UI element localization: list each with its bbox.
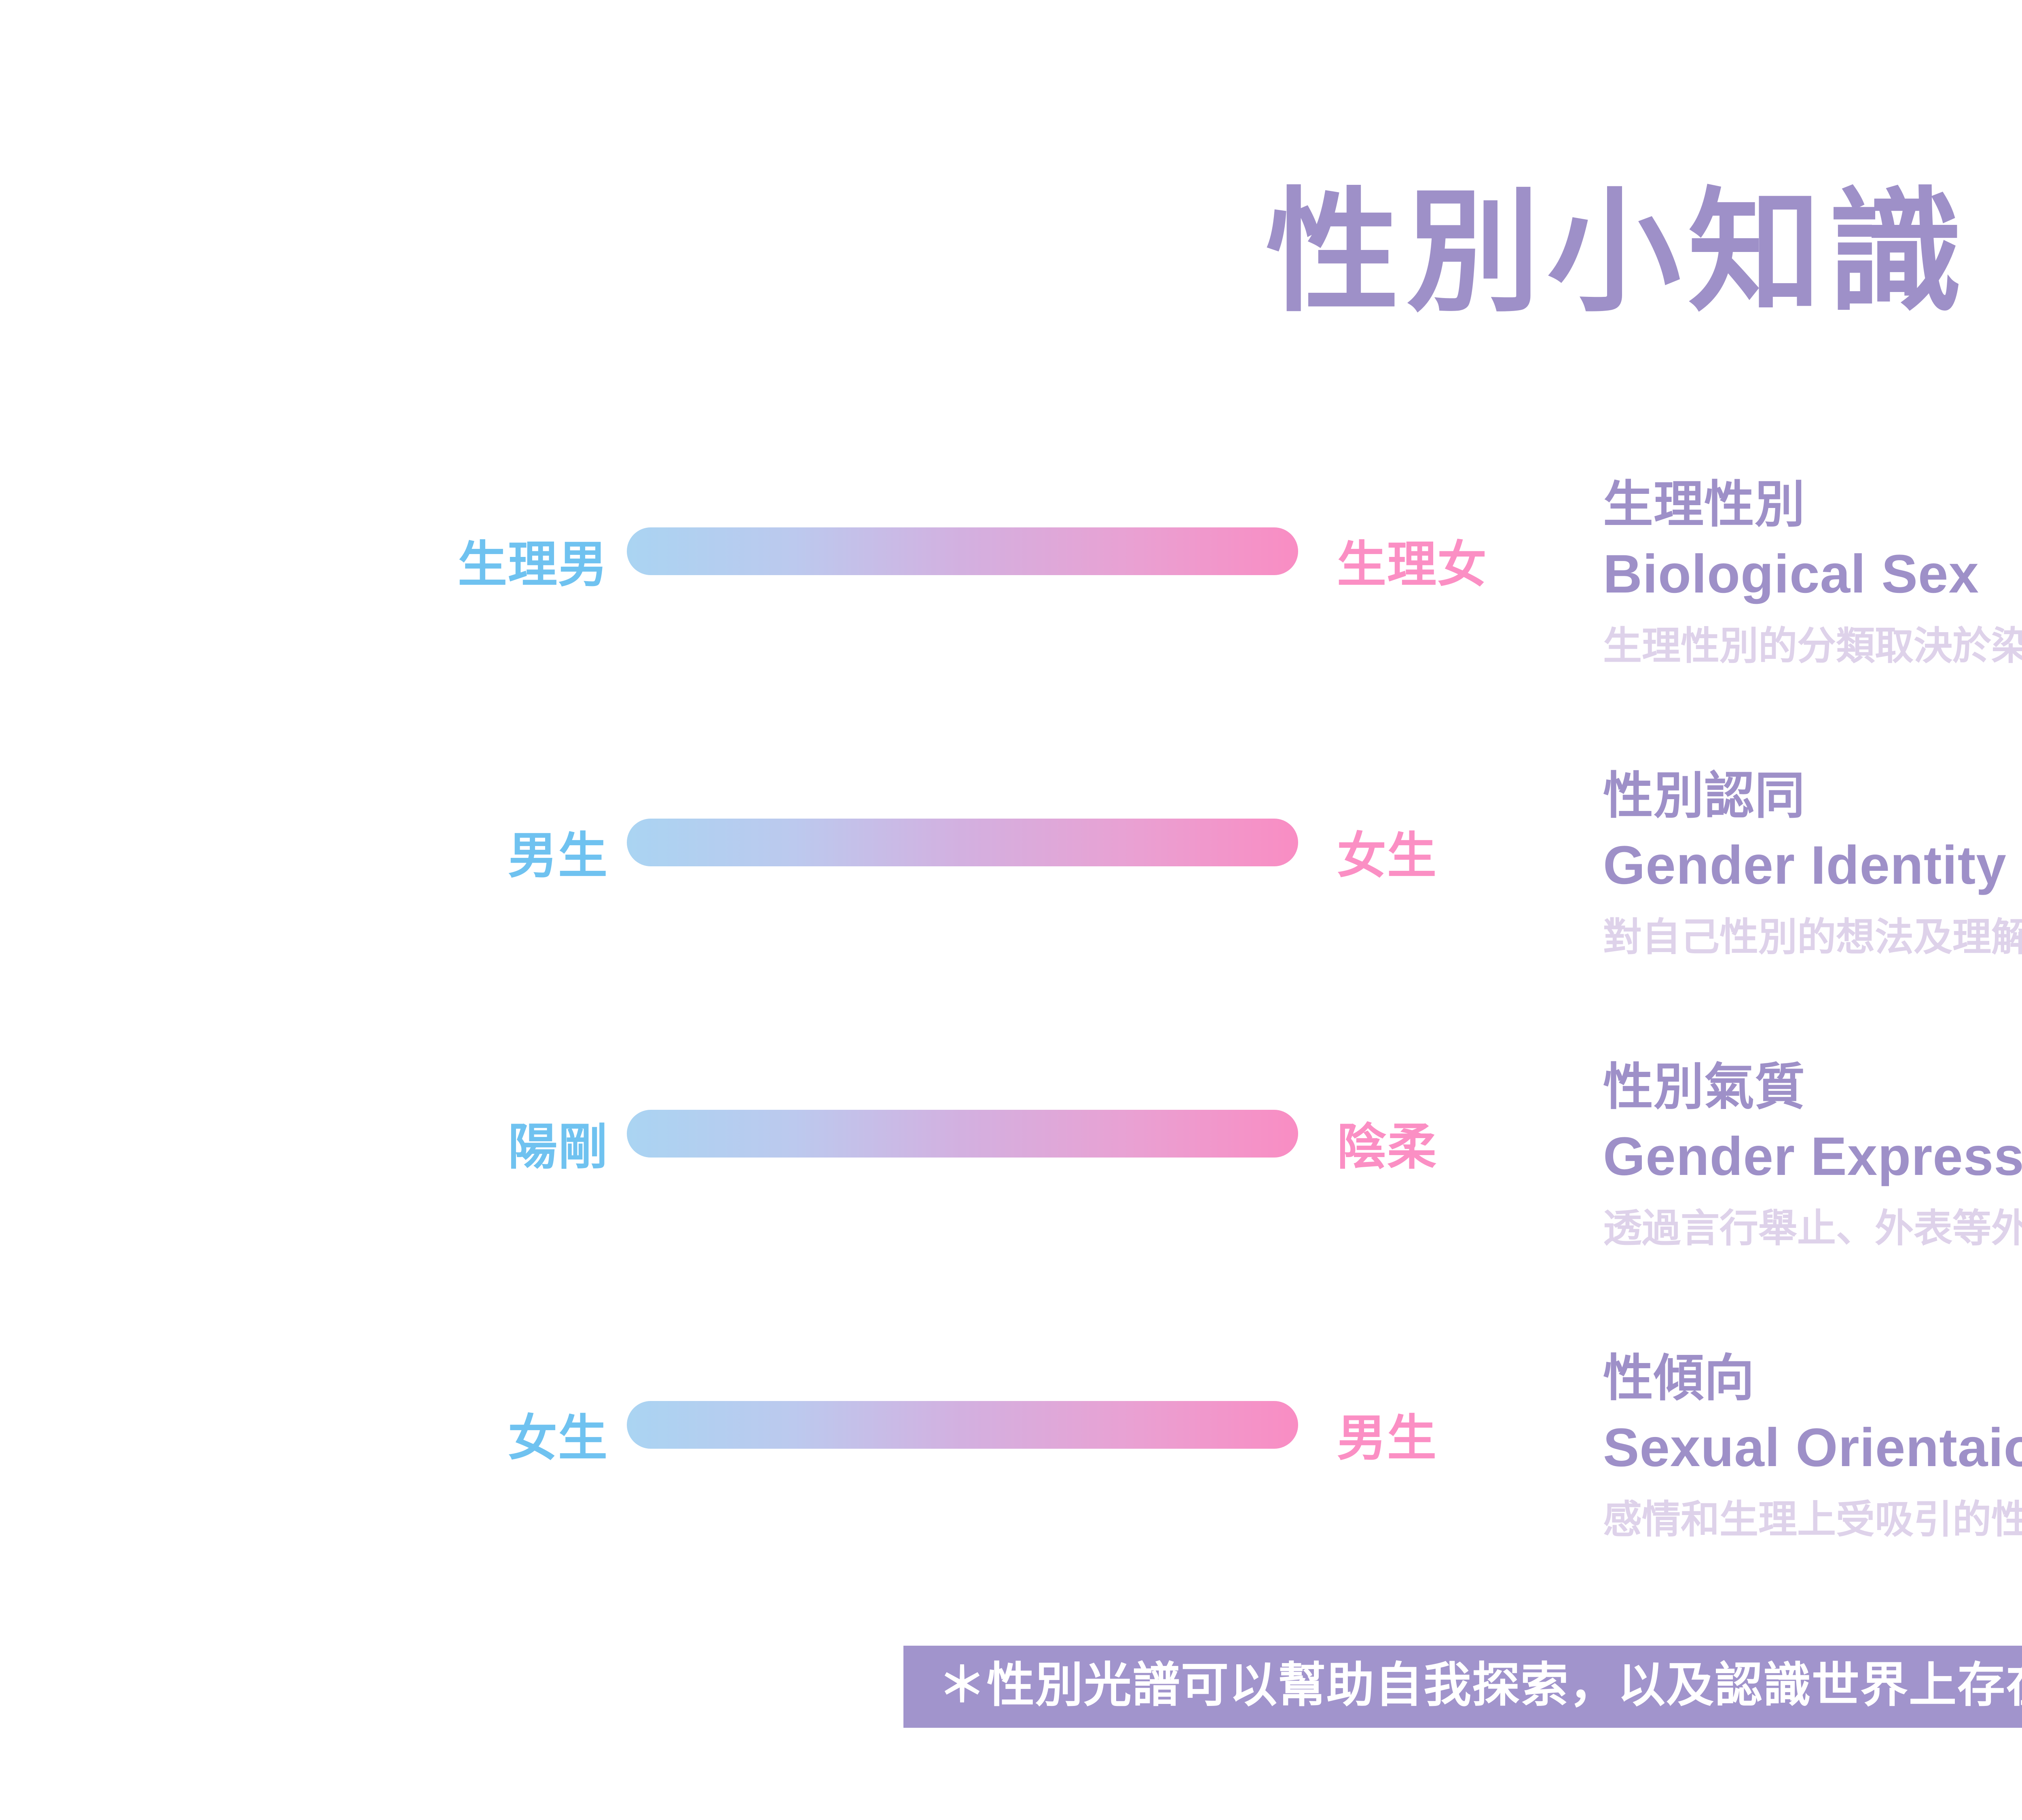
spectrum-gradient-bar[interactable] [627,819,1298,866]
spectrum-row: 女生 男生 性傾向 Sexual Orientaion 感情和生理上受吸引的性別… [0,1338,2022,1630]
title-section: 性別小知識 [0,0,2022,412]
spectrum-right-label: 男生 [1318,1338,1593,1470]
spectrum-right-label: 生理女 [1318,465,1593,596]
spectrum-heading-en: Gender Expression [1603,1120,2022,1193]
spectrum-row: 男生 女生 性別認同 Gender Identity 對自己性別的想法及理解，也… [0,756,2022,1047]
spectrum-bar-cell [627,465,1318,575]
spectrum-right-label: 陰柔 [1318,1047,1593,1179]
spectrum-description: 性傾向 Sexual Orientaion 感情和生理上受吸引的性別，或親密關係… [1593,1338,2022,1545]
spectrum-note: 對自己性別的想法及理解，也就是自我認為的性別 [1603,912,2022,963]
spectrum-left-label: 女生 [0,1338,627,1470]
spectrum-heading-en: Sexual Orientaion [1603,1412,2022,1484]
footer-section: ＊性別光譜可以幫助自我探索，以及認識世界上存在的各種組合 [0,1646,2022,1728]
spectrum-heading-zh: 性別認同 [1603,763,2022,830]
spectrum-description: 生理性別 Biological Sex 生理性別的分類取決於染色體、生殖器、性腺… [1593,465,2022,672]
spectrum-heading-en: Gender Identity [1603,829,2022,902]
spectrum-list: 生理男 生理女 生理性別 Biological Sex 生理性別的分類取決於染色… [0,465,2022,1630]
spectrum-description: 性別認同 Gender Identity 對自己性別的想法及理解，也就是自我認為… [1593,756,2022,963]
spectrum-heading-zh: 生理性別 [1603,472,2022,538]
spectrum-bar-cell [627,1338,1318,1449]
spectrum-heading-zh: 性傾向 [1603,1346,2022,1412]
spectrum-note: 感情和生理上受吸引的性別，或親密關係對象的性別 [1603,1495,2022,1545]
spectrum-note: 透過言行舉止、外表等外在跡象表現自己的性別特質 [1603,1204,2022,1254]
page-title: 性別小知識 [1266,182,1969,323]
spectrum-left-label: 生理男 [0,465,627,596]
spectrum-right-label: 女生 [1318,756,1593,887]
spectrum-note: 生理性別的分類取決於染色體、生殖器、性腺和激素 [1603,621,2022,672]
spectrum-heading-en: Biological Sex [1603,538,2022,611]
spectrum-left-label: 陽剛 [0,1047,627,1179]
spectrum-bar-cell [627,756,1318,866]
spectrum-heading-zh: 性別氣質 [1603,1054,2022,1121]
spectrum-gradient-bar[interactable] [627,1401,1298,1449]
spectrum-gradient-bar[interactable] [627,1110,1298,1158]
spectrum-description: 性別氣質 Gender Expression 透過言行舉止、外表等外在跡象表現自… [1593,1047,2022,1254]
spectrum-gradient-bar[interactable] [627,527,1298,575]
spectrum-row: 陽剛 陰柔 性別氣質 Gender Expression 透過言行舉止、外表等外… [0,1047,2022,1338]
footer-banner: ＊性別光譜可以幫助自我探索，以及認識世界上存在的各種組合 [903,1646,2022,1728]
spectrum-bar-cell [627,1047,1318,1158]
spectrum-row: 生理男 生理女 生理性別 Biological Sex 生理性別的分類取決於染色… [0,465,2022,756]
spectrum-left-label: 男生 [0,756,627,887]
